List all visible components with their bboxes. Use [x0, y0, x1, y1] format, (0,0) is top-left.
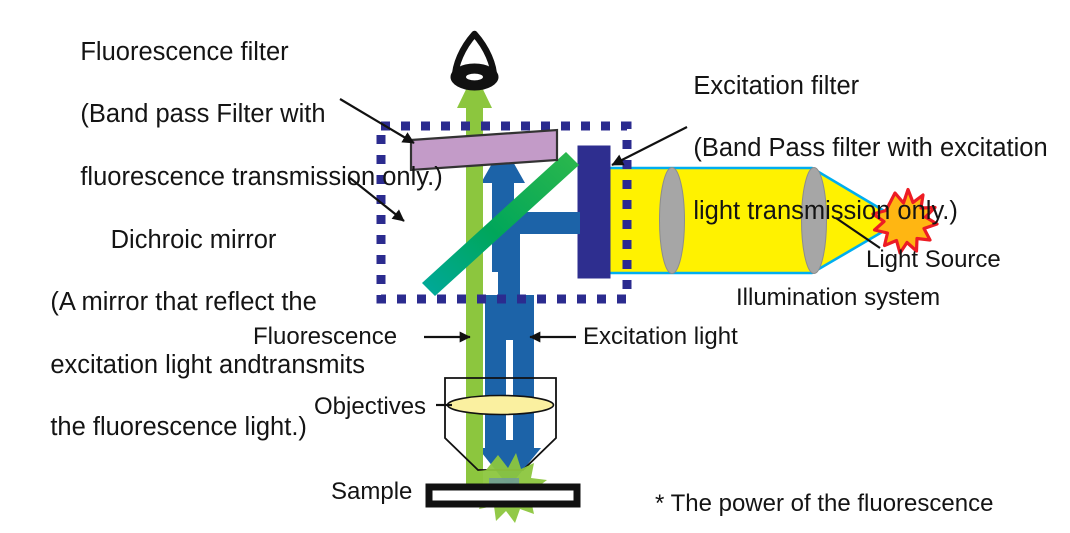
label-dichroic-mirror-line1: Dichroic mirror: [22, 225, 365, 256]
eyepiece-icon: [451, 34, 499, 91]
excitation-filter-element: [578, 146, 610, 278]
label-excitation-filter-line1: Excitation filter: [693, 72, 859, 100]
label-illumination-system: Illumination system: [736, 283, 940, 312]
label-dichroic-mirror: Dichroic mirror (A mirror that reflect t…: [22, 163, 365, 474]
label-excitation-filter-line2: (Band Pass filter with excitation: [693, 134, 1047, 162]
label-footnote-line1: * The power of the fluorescence: [655, 489, 993, 518]
label-objectives: Objectives: [314, 392, 426, 421]
label-fluorescence-filter-line2: (Band pass Filter with: [80, 100, 325, 128]
label-excitation-filter-line3: light transmission only.): [693, 197, 958, 225]
objective-lens-assembly: [445, 378, 556, 470]
objective-lens-glass: [448, 396, 554, 415]
sample-slide: [429, 487, 577, 504]
label-sample: Sample: [331, 477, 412, 506]
label-dichroic-mirror-line3: excitation light andtransmits: [50, 351, 365, 379]
label-excitation-filter: Excitation filter (Band Pass filter with…: [665, 40, 1048, 258]
label-footnote: * The power of the fluorescence light is…: [655, 430, 993, 533]
label-dichroic-mirror-line4: the fluorescence light.): [50, 413, 307, 441]
label-light-source: Light Source: [866, 245, 1001, 274]
label-dichroic-mirror-line2: (A mirror that reflect the: [50, 288, 316, 316]
label-fluorescence-filter-line1: Fluorescence filter: [80, 38, 288, 66]
label-fluorescence-beam: Fluorescence: [253, 322, 397, 351]
diagram-canvas: Fluorescence filter (Band pass Filter wi…: [0, 0, 1070, 533]
label-excitation-beam: Excitation light: [583, 322, 738, 351]
